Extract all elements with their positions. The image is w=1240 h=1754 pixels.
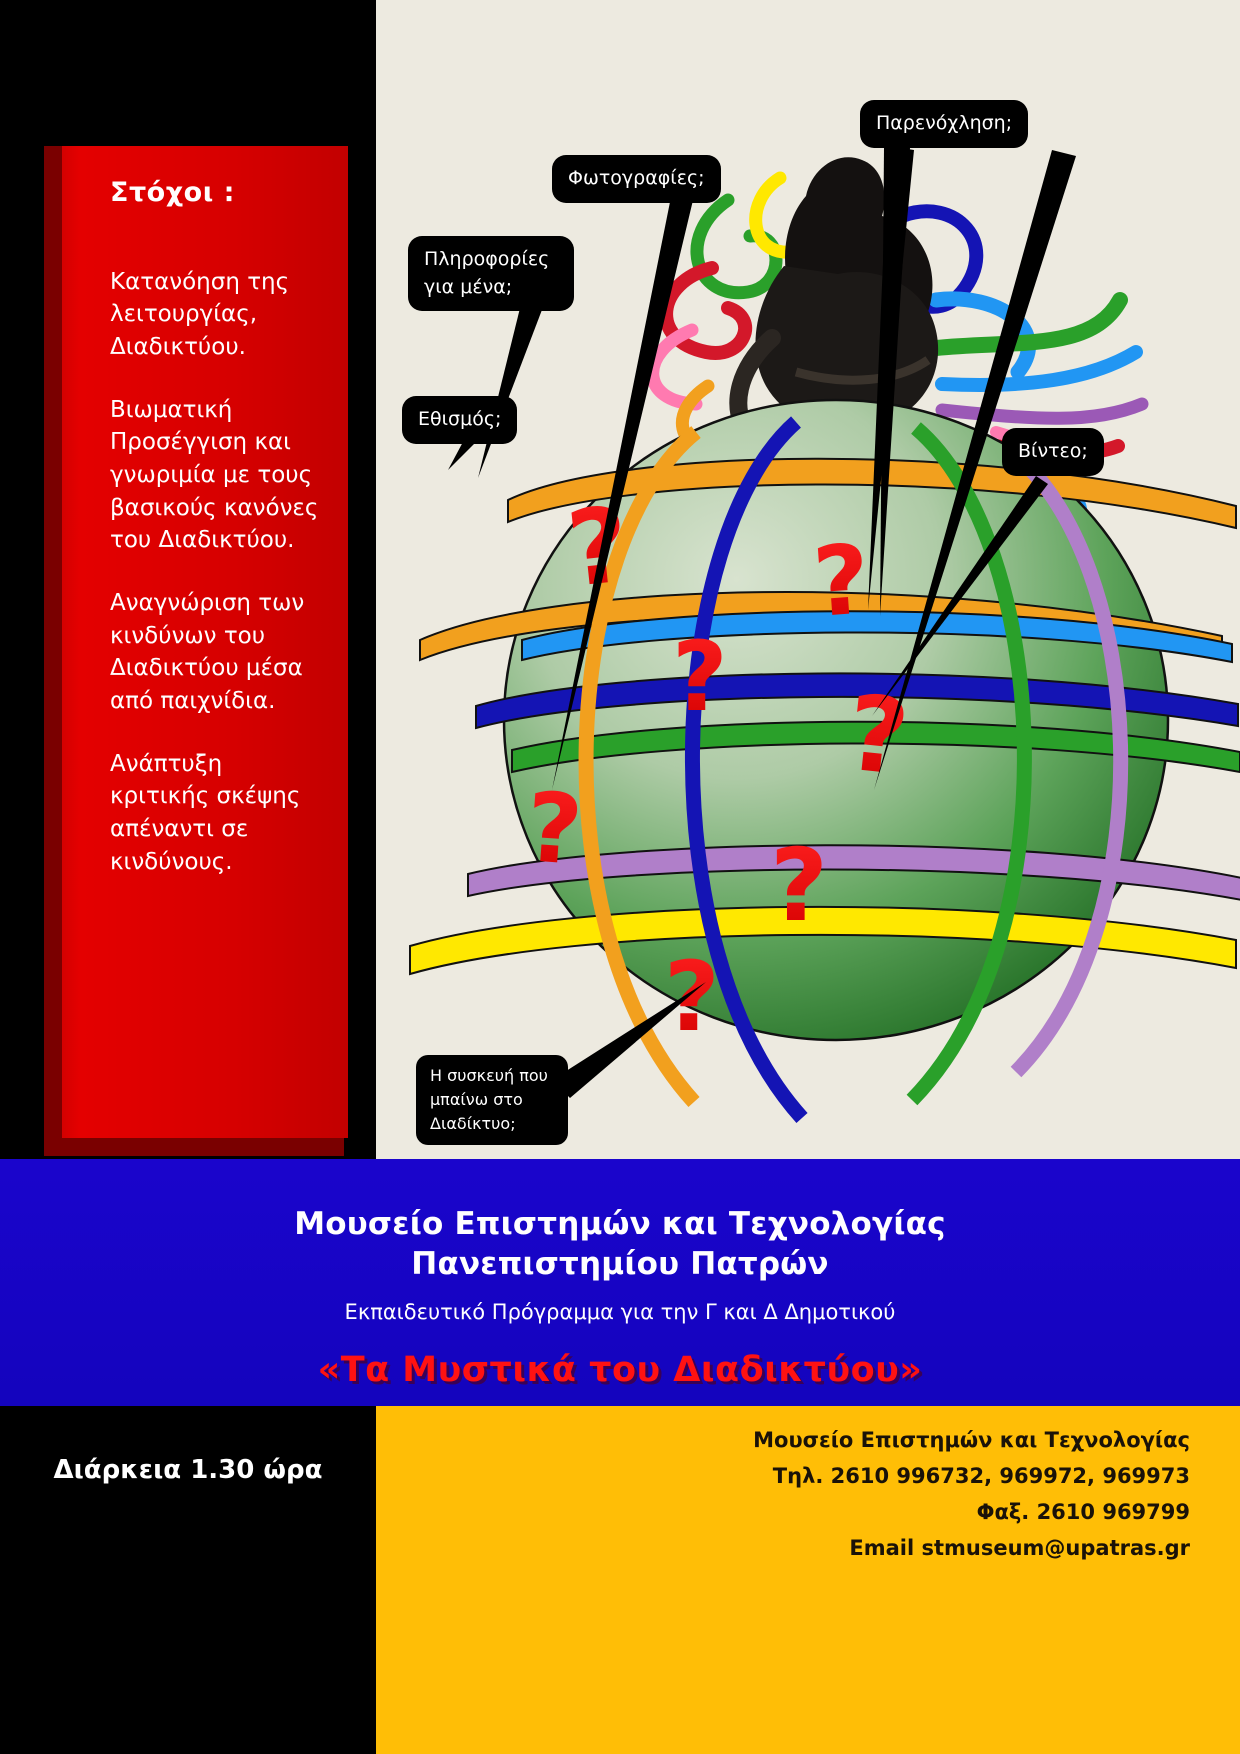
contact-line-phone: Τηλ. 2610 996732, 969972, 969973 <box>753 1458 1190 1494</box>
bubble-info[interactable]: Πληροφορίες για μένα; <box>408 236 574 311</box>
contact-lines: Μουσείο Επιστημών και Τεχνολογίας Τηλ. 2… <box>753 1422 1190 1566</box>
bubble-device[interactable]: Η συσκευή που μπαίνω στο Διαδίκτυο; <box>416 1055 568 1145</box>
duration-label: Διάρκεια 1.30 ώρα <box>0 1455 376 1485</box>
program-slogan: «Τα Μυστικά του Διαδικτύου» <box>0 1350 1240 1390</box>
bubble-tail-group <box>376 0 1240 1159</box>
museum-title-line2: Πανεπιστημίου Πατρών <box>411 1246 828 1282</box>
goals-panel-content: Στόχοι : Κατανόηση της λειτουργίας, Διαδ… <box>110 178 326 908</box>
bubble-video[interactable]: Βίντεο; <box>1002 428 1104 476</box>
goal-item-2: Βιωματική Προσέγγιση και γνωριμία με του… <box>110 394 326 557</box>
illustration-stage: ? ? ? ? ? ? ? Παρενόχληση; Φωτογραφίες; … <box>376 0 1240 1159</box>
program-subtitle: Εκπαιδευτικό Πρόγραμμα για την Γ και Δ Δ… <box>0 1300 1240 1324</box>
bubble-photos[interactable]: Φωτογραφίες; <box>552 155 721 203</box>
goal-item-1: Κατανόηση της λειτουργίας, Διαδικτύου. <box>110 266 326 364</box>
contact-line-fax: Φαξ. 2610 969799 <box>753 1494 1190 1530</box>
museum-title-line1: Μουσείο Επιστημών και Τεχνολογίας <box>294 1206 945 1242</box>
goal-item-4: Ανάπτυξη κριτικής σκέψης απέναντι σε κιν… <box>110 748 326 879</box>
museum-banner: Μουσείο Επιστημών και Τεχνολογίας Πανεπι… <box>0 1159 1240 1406</box>
contact-line-museum: Μουσείο Επιστημών και Τεχνολογίας <box>753 1422 1190 1458</box>
goal-item-3: Αναγνώριση των κινδύνων του Διαδικτύου μ… <box>110 587 326 718</box>
bubble-addiction[interactable]: Εθισμός; <box>402 396 517 444</box>
contact-line-email[interactable]: Email stmuseum@upatras.gr <box>753 1530 1190 1566</box>
museum-title: Μουσείο Επιστημών και Τεχνολογίας Πανεπι… <box>0 1159 1240 1284</box>
contact-box: Μουσείο Επιστημών και Τεχνολογίας Τηλ. 2… <box>376 1406 1240 1754</box>
poster-root: ? ? ? ? ? ? ? Παρενόχληση; Φωτογραφίες; … <box>0 0 1240 1754</box>
goals-title: Στόχοι : <box>110 178 326 208</box>
bubble-harassment[interactable]: Παρενόχληση; <box>860 100 1028 148</box>
